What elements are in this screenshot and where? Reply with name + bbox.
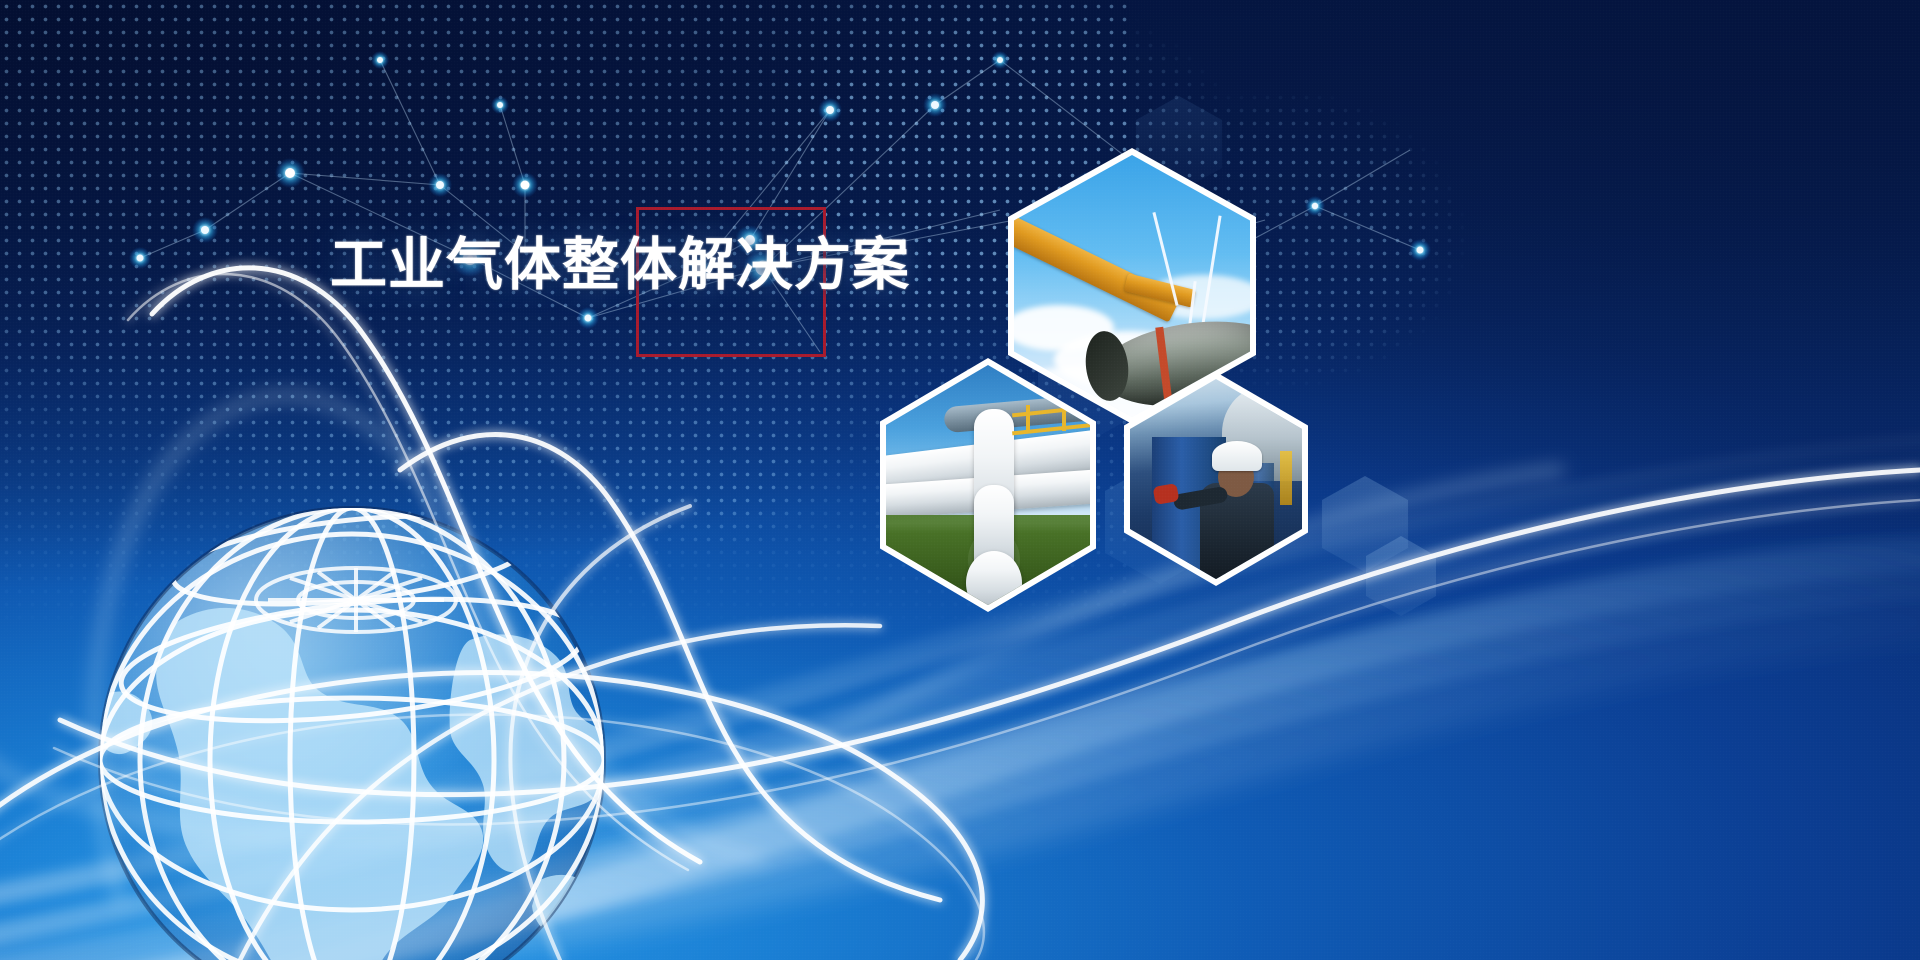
page-title-text: 工业气体整体解决方案 — [330, 236, 910, 296]
yellow-handrail-post — [1026, 405, 1030, 433]
hard-hat — [1212, 441, 1262, 471]
yellow-marker — [1280, 451, 1292, 505]
page-title: 工业气体整体解决方案 — [330, 236, 910, 296]
banner-root: 工业气体整体解决方案 — [0, 0, 1920, 960]
